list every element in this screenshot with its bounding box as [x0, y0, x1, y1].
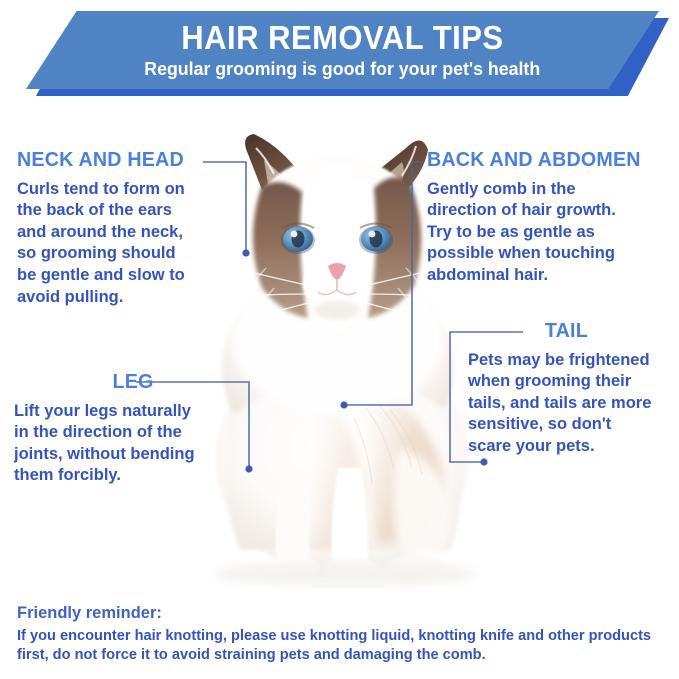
callout-heading-back-and-abdomen: BACK AND ABDOMEN — [427, 149, 665, 171]
callout-body-neck-and-head: Curls tend to form on the back of the ea… — [17, 179, 242, 309]
banner-text-group: HAIR REMOVAL TIPS Regular grooming is go… — [26, 11, 659, 89]
footer-title: Friendly reminder: — [17, 604, 667, 624]
callout-line: them forcibly. — [14, 465, 244, 487]
callout-leg: LEG Lift your legs naturally in the dire… — [14, 371, 244, 487]
callout-heading-leg: LEG — [76, 371, 189, 393]
callout-line: joints, without bending — [14, 444, 244, 466]
callout-line: avoid pulling. — [17, 287, 242, 309]
callout-line: abdominal hair. — [427, 265, 675, 287]
callout-line: scare your pets. — [468, 436, 673, 458]
callout-neck-and-head: NECK AND HEAD Curls tend to form on the … — [17, 149, 242, 308]
page-subtitle: Regular grooming is good for your pet's … — [145, 59, 541, 79]
callout-line: and around the neck, — [17, 222, 242, 244]
callout-heading-tail: TAIL — [468, 320, 665, 342]
callout-line: Pets may be frightened — [468, 350, 673, 372]
callout-body-tail: Pets may be frightened when grooming the… — [468, 350, 673, 458]
callout-tail: TAIL Pets may be frightened when groomin… — [468, 320, 673, 458]
page-title: HAIR REMOVAL TIPS — [181, 21, 503, 55]
callout-line: Lift your legs naturally — [14, 401, 244, 423]
callout-line: so grooming should — [17, 243, 242, 265]
footer-body: If you encounter hair knotting, please u… — [17, 627, 667, 666]
callout-line: in the direction of the — [14, 422, 244, 444]
footer-line: first, do not force it to avoid strainin… — [17, 646, 667, 666]
callout-heading-neck-and-head: NECK AND HEAD — [17, 149, 233, 171]
callout-body-back-and-abdomen: Gently comb in the direction of hair gro… — [427, 179, 675, 287]
callout-line: tails, and tails are more — [468, 393, 673, 415]
callout-line: Try to be as gentle as — [427, 222, 675, 244]
footer-note: Friendly reminder: If you encounter hair… — [17, 604, 667, 666]
callout-line: direction of hair growth. — [427, 200, 675, 222]
callout-line: possible when touching — [427, 243, 675, 265]
header-banner: HAIR REMOVAL TIPS Regular grooming is go… — [0, 0, 679, 104]
callout-line: the back of the ears — [17, 200, 242, 222]
callout-back-and-abdomen: BACK AND ABDOMEN Gently comb in the dire… — [427, 149, 675, 287]
infographic-page: HAIR REMOVAL TIPS Regular grooming is go… — [0, 0, 679, 679]
callout-line: sensitive, so don't — [468, 414, 673, 436]
callout-line: Curls tend to form on — [17, 179, 242, 201]
callout-line: Gently comb in the — [427, 179, 675, 201]
footer-line: If you encounter hair knotting, please u… — [17, 627, 667, 647]
callout-line: be gentle and slow to — [17, 265, 242, 287]
callout-line: when grooming their — [468, 371, 673, 393]
callout-body-leg: Lift your legs naturally in the directio… — [14, 401, 244, 487]
